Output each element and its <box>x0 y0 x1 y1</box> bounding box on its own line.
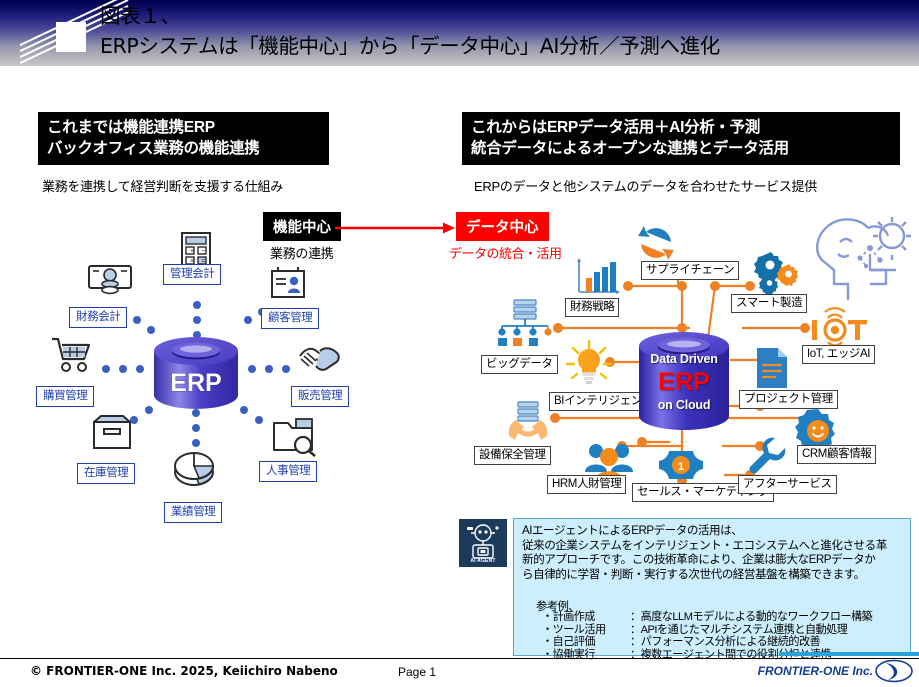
left-node-zaimu-kaikei[interactable]: 財務会計 <box>69 307 127 328</box>
left-node-hanbai-kanri[interactable]: 販売管理 <box>291 386 349 407</box>
right-node-iot-edge-ai[interactable]: IoT, エッジAI <box>802 345 875 364</box>
right-node-supply-chain[interactable]: サプライチェーン <box>641 261 739 280</box>
footer-copyright: © FRONTIER-ONE Inc. 2025, Keiichiro Nabe… <box>30 664 338 678</box>
pie-chart-icon <box>169 450 219 497</box>
right-node-after-service[interactable]: アフターサービス <box>738 475 837 494</box>
page-title: 図表１、 ERPシステムは「機能中心」から「データ中心」AI分析／予測へ進化 <box>100 1 910 65</box>
left-node-kobai-kanri[interactable]: 購買管理 <box>36 386 94 407</box>
document-icon <box>755 347 789 394</box>
footer-brand-name: FRONTIER-ONE Inc. <box>758 664 873 678</box>
right-node-big-data[interactable]: ビッグデータ <box>481 355 558 374</box>
ai-agent-caption: AI AGENT <box>459 558 507 564</box>
frontier-one-logo-icon <box>875 660 913 682</box>
info-paragraph: AIエージェントによるERPデータの活用は、 従来の企業システムをインテリジェン… <box>522 524 902 582</box>
item-value: ：パフォーマンス分析による継続的改善 <box>630 636 902 649</box>
list-item: ・ツール活用 ：APIを通じたマルチシステム連携と自動処理 <box>542 624 902 637</box>
right-node-crm[interactable]: CRM顧客情報 <box>797 445 876 464</box>
right-node-smart-manufacturing[interactable]: スマート製造 <box>731 294 807 313</box>
shopping-cart-icon <box>50 336 94 379</box>
bar-chart-icon <box>574 258 620 303</box>
banknote-icon <box>88 262 132 301</box>
hub-line-1: Data Driven <box>636 352 732 366</box>
data-driven-erp-hub: Data Driven ERP on Cloud <box>636 332 732 432</box>
ai-head-icon <box>808 214 913 309</box>
item-key: ・協働実行 <box>542 649 630 662</box>
left-node-jinji-kanri[interactable]: 人事管理 <box>259 461 317 482</box>
list-item: ・計画作成 ：高度なLLMモデルによる動的なワークフロー構築 <box>542 611 902 624</box>
item-key: ・自己評価 <box>542 636 630 649</box>
footer-divider <box>0 658 919 659</box>
data-network-icon <box>496 298 554 353</box>
lightbulb-icon <box>565 340 613 393</box>
slide-header: 図表１、 ERPシステムは「機能中心」から「データ中心」AI分析／予測へ進化 <box>0 0 919 66</box>
item-key: ・ツール活用 <box>542 624 630 637</box>
left-erp-hub: ERP <box>150 337 242 409</box>
item-key: ・計画作成 <box>542 611 630 624</box>
right-node-hrm[interactable]: HRM人財管理 <box>547 475 626 494</box>
svg-text:1: 1 <box>678 461 684 473</box>
ai-agent-icon: AI AGENT <box>459 519 507 567</box>
contact-card-icon <box>269 266 307 309</box>
left-panel-subtitle: 業務を連携して経営判断を支援する仕組み <box>42 176 283 195</box>
hub-line-2: ERP <box>636 368 732 397</box>
right-panel-subtitle: ERPのデータと他システムのデータを合わせたサービス提供 <box>474 176 817 195</box>
svg-text:+: + <box>190 248 194 255</box>
left-node-kanri-kaikei[interactable]: 管理会計 <box>163 264 221 285</box>
folder-search-icon <box>272 417 316 462</box>
hub-line-3: on Cloud <box>636 398 732 412</box>
handshake-icon <box>296 342 342 383</box>
left-panel-heading: これまでは機能連携ERP バックオフィス業務の機能連携 <box>38 112 329 165</box>
left-node-gyoseki-kanri[interactable]: 業績管理 <box>164 502 222 523</box>
left-node-zaiko-kanri[interactable]: 在庫管理 <box>77 463 135 484</box>
info-panel: AIエージェントによるERPデータの活用は、 従来の企業システムをインテリジェン… <box>513 518 911 656</box>
item-value: ：高度なLLMモデルによる動的なワークフロー構築 <box>630 611 902 624</box>
right-node-zaimu-senryaku[interactable]: 財務戦略 <box>565 298 619 317</box>
storage-box-icon <box>91 415 133 458</box>
right-node-project-kanri[interactable]: プロジェクト管理 <box>739 390 838 409</box>
svg-text:−: − <box>201 248 205 255</box>
item-value: ：APIを通じたマルチシステム連携と自動処理 <box>630 624 902 637</box>
gears-icon <box>755 250 799 295</box>
svg-text:ERP: ERP <box>170 369 221 397</box>
left-node-kokyaku-kanri[interactable]: 顧客管理 <box>261 308 319 329</box>
list-item: ・自己評価 ：パフォーマンス分析による継続的改善 <box>542 636 902 649</box>
footer-accent-bar <box>779 652 919 656</box>
footer-page-number: Page 1 <box>398 665 436 679</box>
right-node-setsubi-hozen[interactable]: 設備保全管理 <box>474 446 551 465</box>
right-panel-heading: これからはERPデータ活用＋AI分析・予測 統合データによるオープンな連携とデー… <box>462 112 900 165</box>
